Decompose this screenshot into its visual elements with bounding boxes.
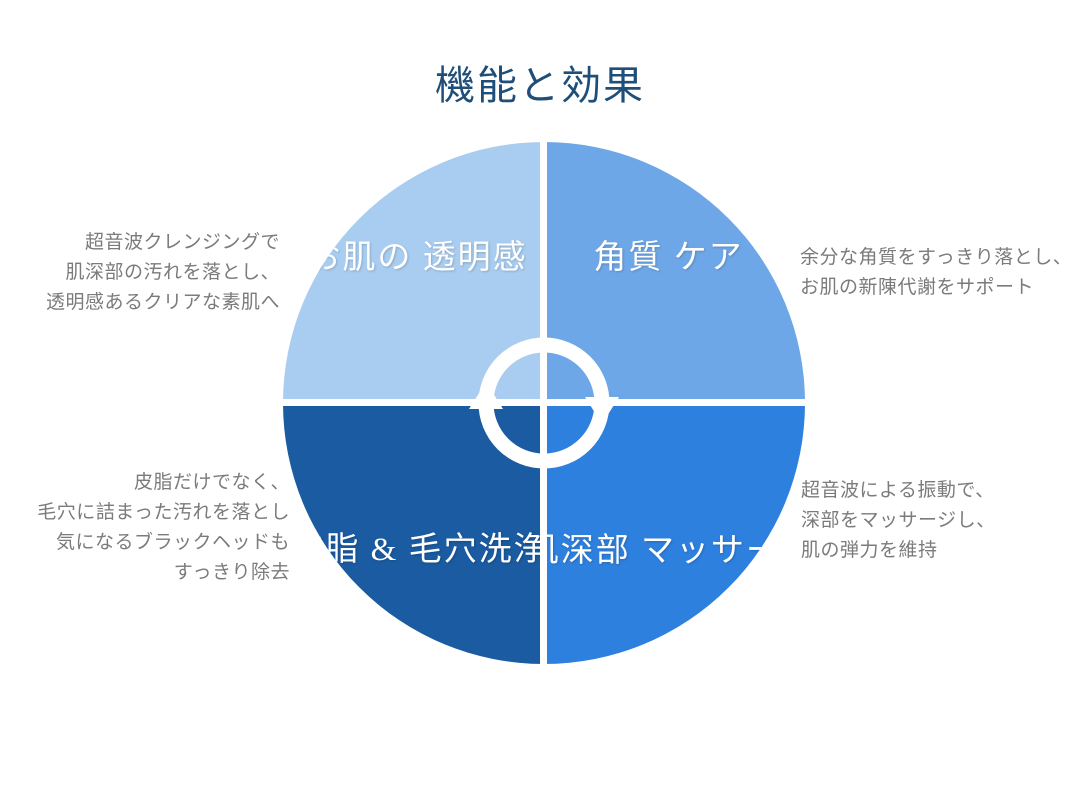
quadrant-label-line: マッサージ	[641, 533, 805, 569]
quadrant-label-line: お肌の	[307, 240, 412, 276]
quadrant-label-line: 角質	[593, 240, 663, 276]
caption-line: 深部をマッサージし、	[801, 506, 996, 536]
quadrant-label-line: 肌深部	[544, 533, 631, 569]
caption-line: すっきり除去	[37, 558, 290, 588]
caption-line: 余分な角質をすっきり落とし、	[800, 243, 1072, 273]
quadrant-label-keratin-care: 角質 ケア	[593, 236, 743, 281]
quadrant-label-line: 透明感	[423, 240, 528, 276]
quadrant-label-sebum-pore-cleansing: 皮脂 & 毛穴洗浄	[290, 527, 544, 573]
quadrant-label-line: ケア	[674, 240, 744, 276]
quadrant-label-deep-skin-massage: 肌深部 マッサージ	[544, 529, 805, 574]
caption-line: 皮脂だけでなく、	[37, 468, 290, 498]
caption-deep-skin-massage: 超音波による振動で、 深部をマッサージし、 肌の弾力を維持	[801, 476, 996, 566]
caption-line: お肌の新陳代謝をサポート	[800, 273, 1072, 303]
diagram-canvas: 機能と効果 お肌の 透明感 角質 ケア 皮脂 & 毛穴洗浄	[0, 0, 1080, 799]
quadrant-label-line: 皮脂	[290, 532, 360, 568]
caption-line: 超音波による振動で、	[801, 476, 996, 506]
caption-line: 肌深部の汚れを落とし、	[46, 258, 280, 288]
cycle-arrow-icon	[464, 323, 624, 483]
quadrant-label-line: 毛穴洗浄	[409, 532, 544, 568]
caption-sebum-pore-cleansing: 皮脂だけでなく、 毛穴に詰まった汚れを落とし 気になるブラックヘッドも すっきり…	[37, 468, 290, 588]
quadrant-label-skin-clarity: お肌の 透明感	[307, 236, 527, 281]
caption-skin-clarity: 超音波クレンジングで 肌深部の汚れを落とし、 透明感あるクリアな素肌へ	[46, 228, 280, 318]
quadrant-label-line: &	[371, 532, 399, 568]
caption-line: 透明感あるクリアな素肌へ	[46, 288, 280, 318]
caption-line: 超音波クレンジングで	[46, 228, 280, 258]
caption-keratin-care: 余分な角質をすっきり落とし、 お肌の新陳代謝をサポート	[800, 243, 1072, 303]
caption-line: 気になるブラックヘッドも	[37, 528, 290, 558]
caption-line: 毛穴に詰まった汚れを落とし	[37, 498, 290, 528]
page-title: 機能と効果	[0, 61, 1080, 111]
caption-line: 肌の弾力を維持	[801, 536, 996, 566]
function-effect-wheel: お肌の 透明感 角質 ケア 皮脂 & 毛穴洗浄 肌深部 マッサージ	[283, 142, 805, 664]
